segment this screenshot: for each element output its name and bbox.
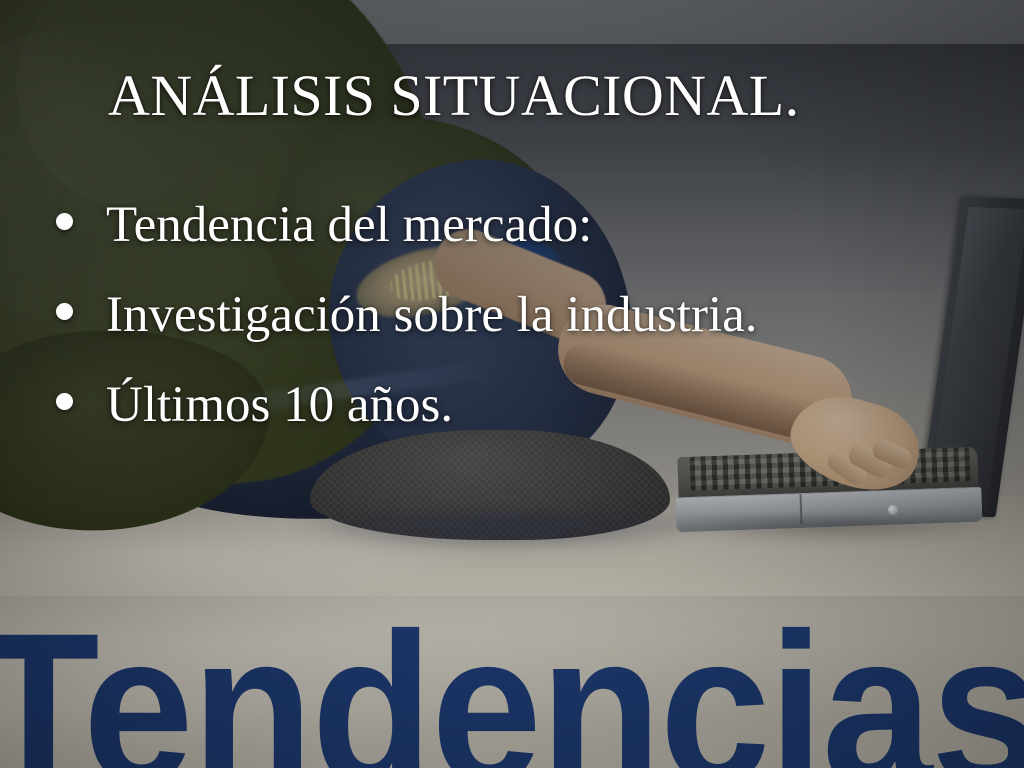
bullet-text-2: Investigación sobre la industria. bbox=[106, 290, 758, 341]
bullet-dot-icon bbox=[56, 213, 73, 230]
bullet-text-3: Últimos 10 años. bbox=[106, 380, 453, 431]
presentation-slide: Tendencias ANÁLISIS SITUACIONAL. Tendenc… bbox=[0, 0, 1024, 768]
bullet-text-1: Tendencia del mercado: bbox=[106, 200, 592, 251]
bullet-item-2: Investigación sobre la industria. bbox=[56, 290, 758, 380]
bullet-item-3: Últimos 10 años. bbox=[56, 380, 758, 470]
bullet-item-1: Tendencia del mercado: bbox=[56, 200, 758, 290]
slide-content: ANÁLISIS SITUACIONAL. Tendencia del merc… bbox=[0, 0, 1024, 768]
bullet-list: Tendencia del mercado: Investigación sob… bbox=[56, 200, 758, 470]
bullet-dot-icon bbox=[56, 393, 73, 410]
bullet-dot-icon bbox=[56, 303, 73, 320]
slide-title: ANÁLISIS SITUACIONAL. bbox=[108, 66, 800, 127]
